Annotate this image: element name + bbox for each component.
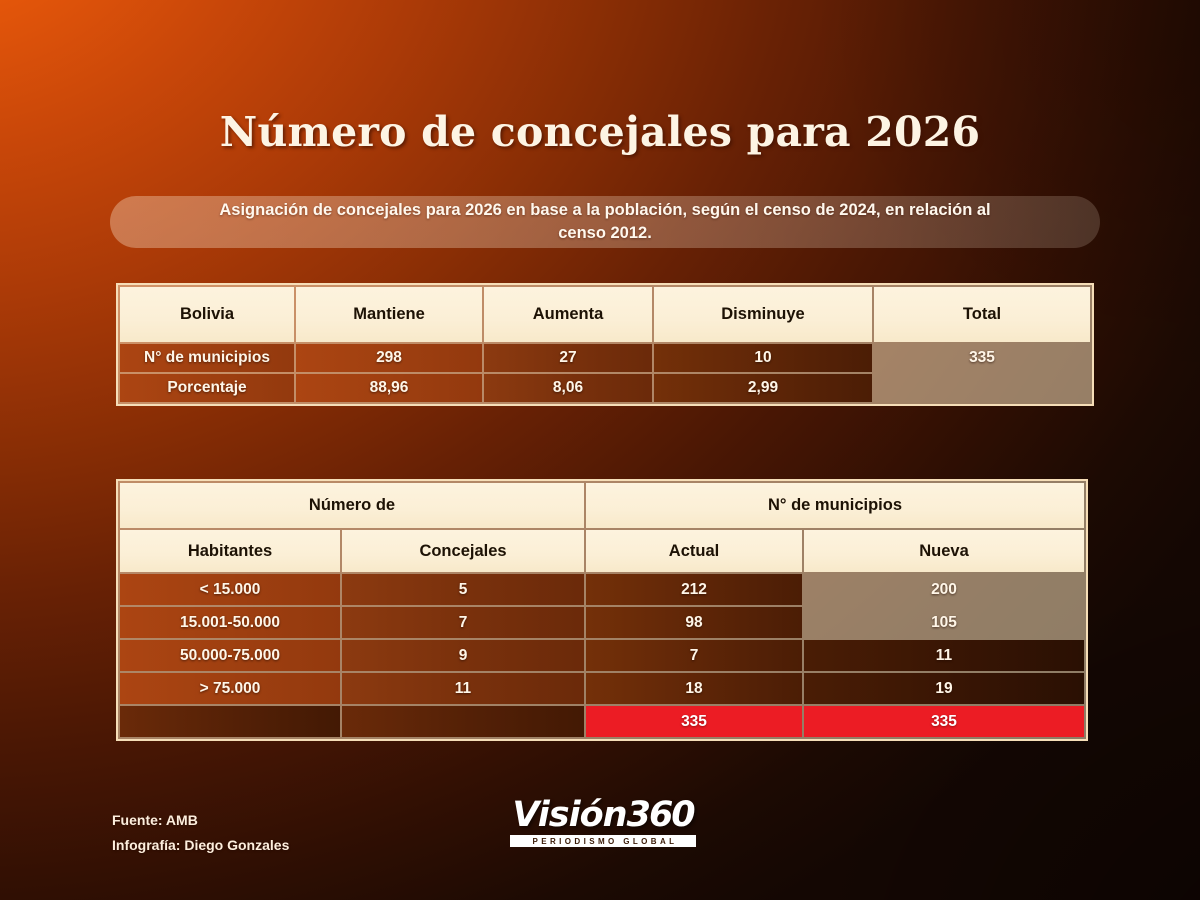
column-header-mantiene: Mantiene <box>296 287 482 342</box>
cell-habitantes: 15.001-50.000 <box>120 607 340 638</box>
table-row: N° de municipios 298 27 10 335 <box>120 344 1090 372</box>
cell-total-concejales <box>342 706 584 737</box>
cell-actual: 7 <box>586 640 802 671</box>
table-row: < 15.000 5 212 200 <box>120 574 1084 605</box>
cell-nueva: 11 <box>804 640 1084 671</box>
logo-number: 360 <box>627 795 694 835</box>
cell-total-actual: 335 <box>586 706 802 737</box>
group-header-numero-de: Número de <box>120 483 584 528</box>
cell-concejales: 9 <box>342 640 584 671</box>
row-label-porcentaje: Porcentaje <box>120 374 294 402</box>
cell-concejales: 7 <box>342 607 584 638</box>
column-header-bolivia: Bolivia <box>120 287 294 342</box>
column-header-habitantes: Habitantes <box>120 530 340 572</box>
cell-habitantes: < 15.000 <box>120 574 340 605</box>
subtitle-text: Asignación de concejales para 2026 en ba… <box>205 199 1005 246</box>
table-row: 50.000-75.000 9 7 11 <box>120 640 1084 671</box>
cell-porcentaje-mantiene: 88,96 <box>296 374 482 402</box>
cell-nueva: 105 <box>804 607 1084 638</box>
subtitle-banner: Asignación de concejales para 2026 en ba… <box>110 196 1100 248</box>
cell-concejales: 5 <box>342 574 584 605</box>
table-row: Habitantes Concejales Actual Nueva <box>120 530 1084 572</box>
cell-porcentaje-disminuye: 2,99 <box>654 374 872 402</box>
column-header-disminuye: Disminuye <box>654 287 872 342</box>
logo-wordmark: Visión360 <box>510 798 696 833</box>
summary-table: Bolivia Mantiene Aumenta Disminuye Total… <box>116 283 1094 406</box>
cell-total-habitantes <box>120 706 340 737</box>
cell-concejales: 11 <box>342 673 584 704</box>
cell-municipios-aumenta: 27 <box>484 344 652 372</box>
table-row: > 75.000 11 18 19 <box>120 673 1084 704</box>
page-title: Número de concejales para 2026 <box>0 108 1200 156</box>
credits-block: Fuente: AMB Infografía: Diego Gonzales <box>112 808 289 857</box>
row-label-municipios: N° de municipios <box>120 344 294 372</box>
cell-municipios-total: 335 <box>874 344 1090 372</box>
cell-municipios-disminuye: 10 <box>654 344 872 372</box>
table-row: Porcentaje 88,96 8,06 2,99 <box>120 374 1090 402</box>
cell-actual: 18 <box>586 673 802 704</box>
cell-nueva: 200 <box>804 574 1084 605</box>
column-header-actual: Actual <box>586 530 802 572</box>
cell-municipios-mantiene: 298 <box>296 344 482 372</box>
cell-porcentaje-total <box>874 374 1090 402</box>
cell-porcentaje-aumenta: 8,06 <box>484 374 652 402</box>
column-header-aumenta: Aumenta <box>484 287 652 342</box>
logo-word: Visión <box>512 795 626 835</box>
column-header-nueva: Nueva <box>804 530 1084 572</box>
cell-habitantes: > 75.000 <box>120 673 340 704</box>
column-header-concejales: Concejales <box>342 530 584 572</box>
infographic-author-text: Infografía: Diego Gonzales <box>112 833 289 858</box>
table-row: 15.001-50.000 7 98 105 <box>120 607 1084 638</box>
logo-tagline: PERIODISMO GLOBAL <box>510 835 696 847</box>
cell-total-nueva: 335 <box>804 706 1084 737</box>
table-row: Bolivia Mantiene Aumenta Disminuye Total <box>120 287 1090 342</box>
detail-table: Número de N° de municipios Habitantes Co… <box>116 479 1088 741</box>
cell-actual: 98 <box>586 607 802 638</box>
column-header-total: Total <box>874 287 1090 342</box>
cell-habitantes: 50.000-75.000 <box>120 640 340 671</box>
group-header-municipios: N° de municipios <box>586 483 1084 528</box>
vision360-logo: Visión360 PERIODISMO GLOBAL <box>510 798 696 847</box>
infographic-canvas: Número de concejales para 2026 Asignació… <box>0 0 1200 900</box>
table-row-total: 335 335 <box>120 706 1084 737</box>
cell-actual: 212 <box>586 574 802 605</box>
table-row: Número de N° de municipios <box>120 483 1084 528</box>
cell-nueva: 19 <box>804 673 1084 704</box>
source-text: Fuente: AMB <box>112 808 289 833</box>
